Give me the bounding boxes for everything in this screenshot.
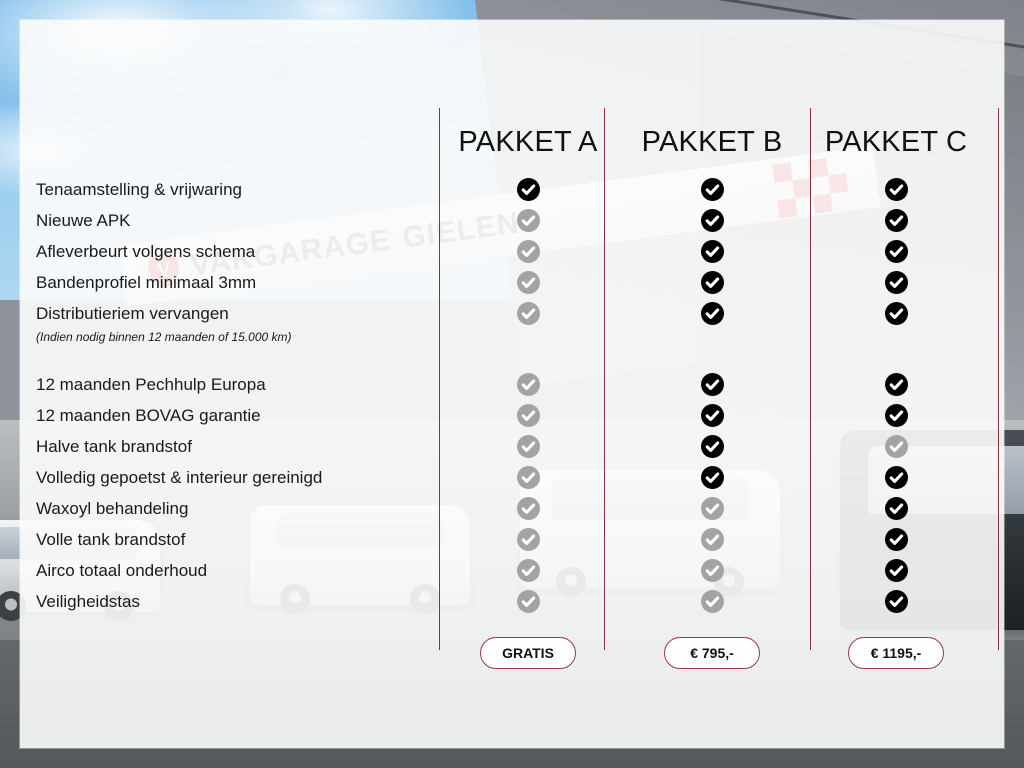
check-icon-a-excluded	[517, 466, 540, 489]
check-icon-b-included	[701, 271, 724, 294]
check-icon-b-included	[701, 178, 724, 201]
check-icon-a-excluded	[517, 497, 540, 520]
price-pill-a[interactable]: GRATIS	[480, 637, 576, 669]
check-icon-a-excluded	[517, 271, 540, 294]
content-panel: PAKKET APAKKET BPAKKET C Tenaamstelling …	[20, 20, 1004, 748]
check-icon-c-included	[885, 302, 908, 325]
checkmark-row	[20, 236, 1004, 267]
check-icon-b-excluded	[701, 497, 724, 520]
checkmark-row	[20, 524, 1004, 555]
check-icon-b-included	[701, 466, 724, 489]
checkmark-row	[20, 298, 1004, 329]
subnote-spacer	[20, 329, 1004, 347]
check-icon-a-excluded	[517, 528, 540, 551]
package-title-a: PAKKET A	[458, 116, 597, 168]
check-icon-b-excluded	[701, 528, 724, 551]
check-icon-a-excluded	[517, 302, 540, 325]
check-icon-c-included	[885, 209, 908, 232]
checkmark-row	[20, 493, 1004, 524]
check-icon-b-included	[701, 209, 724, 232]
check-icon-c-included	[885, 466, 908, 489]
checkmark-grid	[20, 174, 1004, 617]
check-icon-a-included	[517, 178, 540, 201]
check-icon-a-excluded	[517, 240, 540, 263]
check-icon-a-excluded	[517, 373, 540, 396]
checkmark-row	[20, 400, 1004, 431]
price-pill-c[interactable]: € 1195,-	[848, 637, 944, 669]
check-icon-b-included	[701, 373, 724, 396]
checkmark-row	[20, 431, 1004, 462]
package-title-b: PAKKET B	[642, 116, 783, 168]
package-header-row: PAKKET APAKKET BPAKKET C	[20, 116, 1004, 168]
check-icon-c-included	[885, 559, 908, 582]
check-icon-b-excluded	[701, 559, 724, 582]
checkmark-row	[20, 462, 1004, 493]
check-icon-c-included	[885, 178, 908, 201]
checkmark-row	[20, 586, 1004, 617]
package-title-c: PAKKET C	[825, 116, 967, 168]
check-icon-b-included	[701, 435, 724, 458]
check-icon-a-excluded	[517, 590, 540, 613]
check-icon-b-included	[701, 302, 724, 325]
check-icon-c-excluded	[885, 435, 908, 458]
check-icon-a-excluded	[517, 404, 540, 427]
check-icon-c-included	[885, 373, 908, 396]
checkmark-row	[20, 205, 1004, 236]
checkmark-row	[20, 174, 1004, 205]
check-icon-c-included	[885, 404, 908, 427]
check-icon-c-included	[885, 528, 908, 551]
checkmark-row	[20, 555, 1004, 586]
check-icon-b-excluded	[701, 590, 724, 613]
checkmark-row	[20, 369, 1004, 400]
checkmark-row	[20, 267, 1004, 298]
check-icon-a-excluded	[517, 559, 540, 582]
check-icon-c-included	[885, 497, 908, 520]
check-icon-c-included	[885, 590, 908, 613]
screenshot-root: VAKGARAGE GIELEN PAKKET APAKKET BPAKKET …	[0, 0, 1024, 768]
check-icon-c-included	[885, 271, 908, 294]
price-pill-b[interactable]: € 795,-	[664, 637, 760, 669]
check-icon-a-excluded	[517, 209, 540, 232]
check-icon-b-included	[701, 240, 724, 263]
check-icon-a-excluded	[517, 435, 540, 458]
group-spacer	[20, 347, 1004, 369]
check-icon-b-included	[701, 404, 724, 427]
check-icon-c-included	[885, 240, 908, 263]
